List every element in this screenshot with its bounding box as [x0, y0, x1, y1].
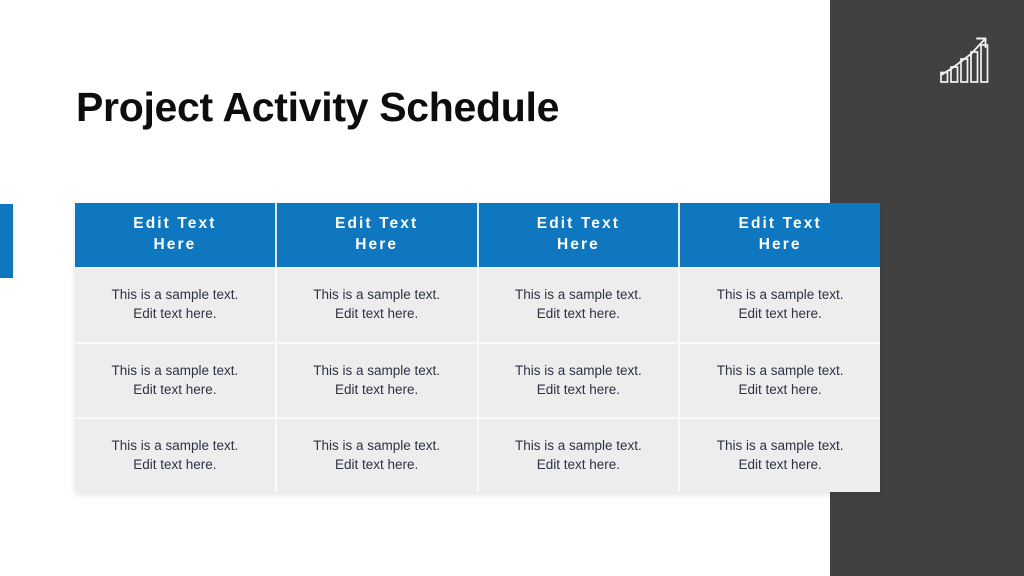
table-row: This is a sample text. Edit text here. T…	[75, 267, 880, 342]
cell-line1: This is a sample text.	[717, 362, 844, 380]
table-cell[interactable]: This is a sample text. Edit text here.	[680, 267, 880, 342]
header-cell-line2: Here	[759, 235, 802, 256]
cell-line1: This is a sample text.	[515, 362, 642, 380]
cell-line1: This is a sample text.	[717, 437, 844, 455]
table-header-cell-2[interactable]: Edit Text Here	[277, 203, 479, 267]
cell-line1: This is a sample text.	[717, 286, 844, 304]
cell-line1: This is a sample text.	[111, 437, 238, 455]
cell-line2: Edit text here.	[313, 305, 440, 323]
table-cell[interactable]: This is a sample text. Edit text here.	[277, 417, 479, 492]
cell-line2: Edit text here.	[515, 456, 642, 474]
header-cell-line2: Here	[557, 235, 600, 256]
page-title: Project Activity Schedule	[76, 84, 559, 131]
table-cell[interactable]: This is a sample text. Edit text here.	[680, 342, 880, 417]
table-header-cell-4[interactable]: Edit Text Here	[680, 203, 880, 267]
cell-line1: This is a sample text.	[111, 362, 238, 380]
cell-line2: Edit text here.	[313, 456, 440, 474]
cell-line2: Edit text here.	[515, 305, 642, 323]
cell-line2: Edit text here.	[111, 456, 238, 474]
header-cell-line1: Edit Text	[537, 214, 620, 235]
cell-line2: Edit text here.	[717, 381, 844, 399]
table-cell[interactable]: This is a sample text. Edit text here.	[479, 267, 681, 342]
cell-line1: This is a sample text.	[515, 437, 642, 455]
cell-line2: Edit text here.	[717, 456, 844, 474]
table-cell[interactable]: This is a sample text. Edit text here.	[277, 267, 479, 342]
growth-chart-icon	[938, 31, 992, 85]
table-cell[interactable]: This is a sample text. Edit text here.	[479, 342, 681, 417]
cell-line2: Edit text here.	[515, 381, 642, 399]
header-cell-line1: Edit Text	[335, 214, 418, 235]
cell-line2: Edit text here.	[111, 305, 238, 323]
cell-line1: This is a sample text.	[313, 286, 440, 304]
table-cell[interactable]: This is a sample text. Edit text here.	[277, 342, 479, 417]
cell-line1: This is a sample text.	[515, 286, 642, 304]
table-cell[interactable]: This is a sample text. Edit text here.	[75, 342, 277, 417]
table-header-row: Edit Text Here Edit Text Here Edit Text …	[75, 203, 880, 267]
table-header-cell-3[interactable]: Edit Text Here	[479, 203, 681, 267]
cell-line2: Edit text here.	[313, 381, 440, 399]
cell-line2: Edit text here.	[111, 381, 238, 399]
table-cell[interactable]: This is a sample text. Edit text here.	[75, 267, 277, 342]
cell-line1: This is a sample text.	[313, 362, 440, 380]
header-cell-line2: Here	[153, 235, 196, 256]
table-row: This is a sample text. Edit text here. T…	[75, 417, 880, 492]
header-cell-line2: Here	[355, 235, 398, 256]
table-header-cell-1[interactable]: Edit Text Here	[75, 203, 277, 267]
cell-line1: This is a sample text.	[111, 286, 238, 304]
header-cell-line1: Edit Text	[739, 214, 822, 235]
schedule-table: Edit Text Here Edit Text Here Edit Text …	[75, 203, 880, 492]
table-row: This is a sample text. Edit text here. T…	[75, 342, 880, 417]
slide-canvas: Project Activity Schedule Edit Text Here…	[0, 0, 1024, 576]
table-cell[interactable]: This is a sample text. Edit text here.	[479, 417, 681, 492]
table-cell[interactable]: This is a sample text. Edit text here.	[75, 417, 277, 492]
cell-line1: This is a sample text.	[313, 437, 440, 455]
header-cell-line1: Edit Text	[133, 214, 216, 235]
table-cell[interactable]: This is a sample text. Edit text here.	[680, 417, 880, 492]
cell-line2: Edit text here.	[717, 305, 844, 323]
left-accent-bar	[0, 204, 13, 278]
